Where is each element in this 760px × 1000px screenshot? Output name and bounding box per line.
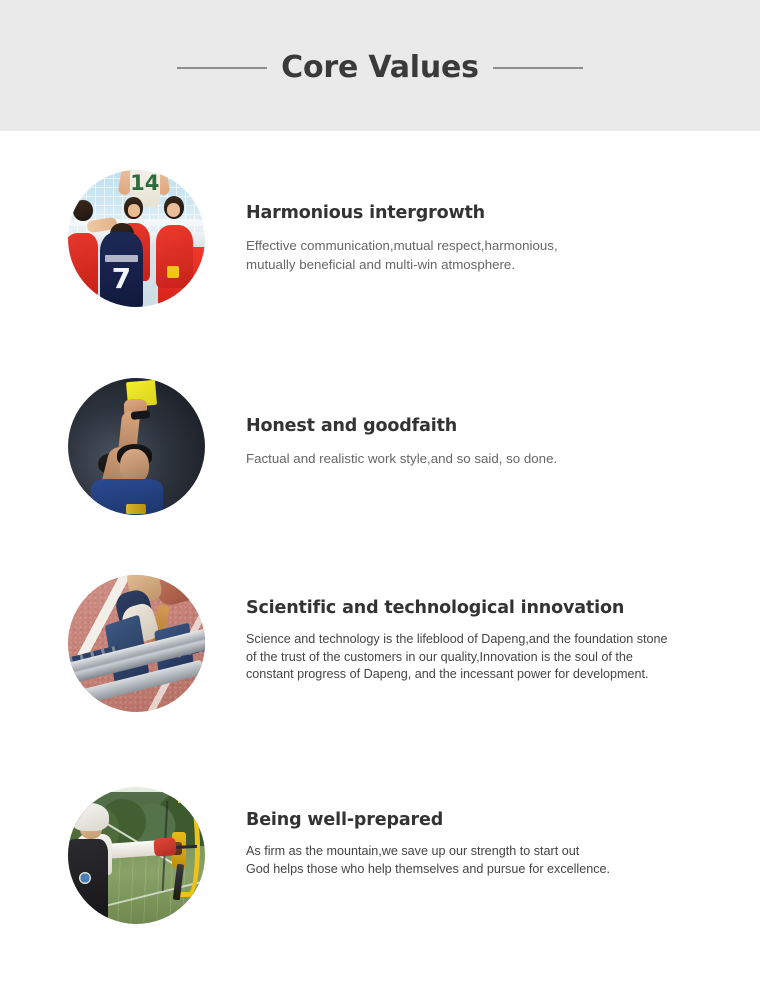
value-text-block: Harmonious intergrowth Effective communi…: [246, 203, 746, 274]
value-title: Being well-prepared: [246, 810, 746, 830]
center-player-number: 7: [108, 265, 135, 293]
archer-arm-guard: [154, 837, 177, 856]
value-item-harmonious-intergrowth: 14 7: [0, 131, 760, 341]
value-text-block: Being well-prepared As firm as the mount…: [246, 810, 746, 878]
archery-archer-photo: [68, 787, 205, 924]
value-description: As firm as the mountain,we save up our s…: [246, 843, 746, 878]
value-item-being-well-prepared: Being well-prepared As firm as the mount…: [0, 736, 760, 931]
header-title-group: Core Values: [177, 50, 583, 85]
header-rule-left: [177, 67, 267, 69]
track-starting-blocks-photo: [68, 575, 205, 712]
left-player-head: [73, 200, 92, 221]
value-description: Factual and realistic work style,and so …: [246, 449, 746, 468]
referee-head: [120, 449, 149, 483]
jumper-number: 14: [130, 173, 160, 194]
page-title: Core Values: [281, 50, 479, 85]
right-player-face: [167, 203, 181, 217]
right-player-body: [156, 225, 193, 288]
volleyball-team-celebration-photo: 14 7: [68, 170, 205, 307]
referee-badge: [126, 504, 147, 514]
header-rule-right: [493, 67, 583, 69]
referee-yellow-card-photo: [68, 378, 205, 515]
value-item-scientific-and-technological-innovation: Scientific and technological innovation …: [0, 531, 760, 736]
middle-player-face: [128, 204, 140, 216]
center-player-nametag: [105, 255, 138, 262]
value-description: Science and technology is the lifeblood …: [246, 631, 746, 684]
value-title: Honest and goodfaith: [246, 416, 746, 436]
value-item-honest-and-goodfaith: Honest and goodfaith Factual and realist…: [0, 341, 760, 531]
core-values-page: Core Values 14: [0, 0, 760, 1000]
left-player-body: [68, 233, 98, 299]
value-description: Effective communication,mutual respect,h…: [246, 236, 746, 274]
value-text-block: Honest and goodfaith Factual and realist…: [246, 416, 746, 468]
jersey-logo-right: [167, 266, 179, 278]
page-header: Core Values: [0, 0, 760, 131]
value-title: Scientific and technological innovation: [246, 598, 746, 618]
value-title: Harmonious intergrowth: [246, 203, 746, 223]
archer-cap: [71, 803, 109, 830]
value-text-block: Scientific and technological innovation …: [246, 598, 746, 684]
